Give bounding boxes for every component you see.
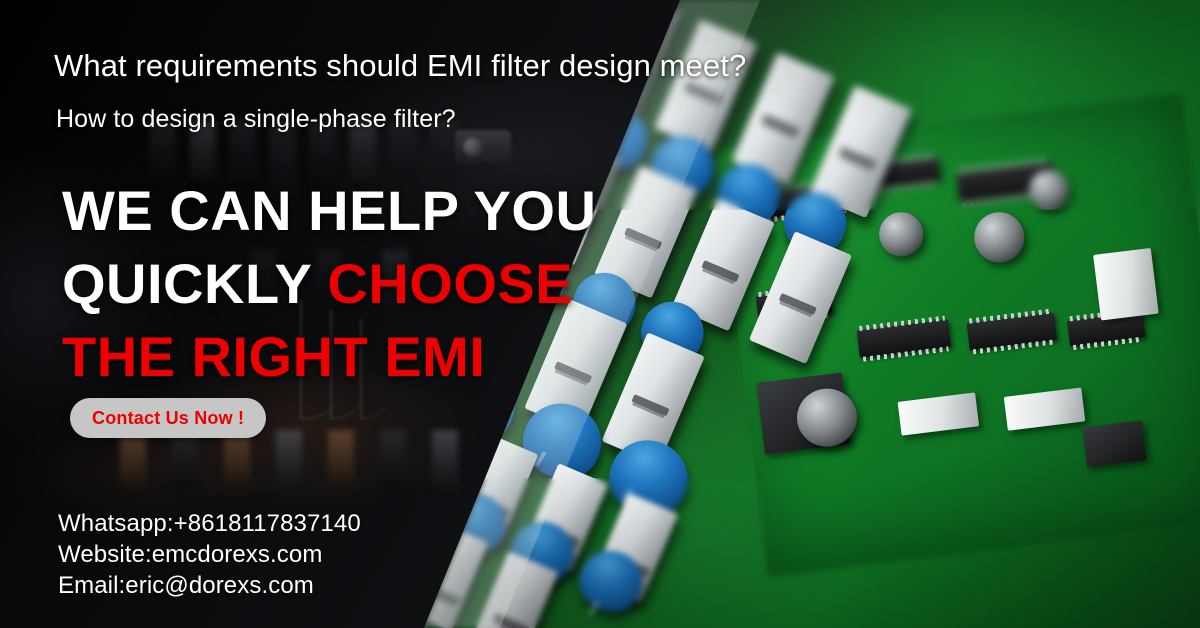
subheadline-question: How to design a single-phase filter? xyxy=(56,105,456,134)
contact-whatsapp[interactable]: Whatsapp:+8618117837140 xyxy=(58,508,361,539)
contact-email[interactable]: Email:eric@dorexs.com xyxy=(58,570,361,601)
contact-info-block: Whatsapp:+8618117837140 Website:emcdorex… xyxy=(58,508,361,601)
headline-question: What requirements should EMI filter desi… xyxy=(54,48,746,84)
slogan-line-2: QUICKLY CHOOSE xyxy=(62,247,596,320)
contact-us-button[interactable]: Contact Us Now ! xyxy=(70,398,266,438)
slogan-line-1: WE CAN HELP YOU xyxy=(62,174,596,247)
slogan-line-2-red: CHOOSE xyxy=(327,252,573,315)
promo-banner: What requirements should EMI filter desi… xyxy=(0,0,1200,628)
banner-content: What requirements should EMI filter desi… xyxy=(0,0,1200,628)
contact-website[interactable]: Website:emcdorexs.com xyxy=(58,539,361,570)
slogan-block: WE CAN HELP YOU QUICKLY CHOOSE THE RIGHT… xyxy=(62,174,596,393)
slogan-line-3: THE RIGHT EMI xyxy=(62,320,596,393)
slogan-line-2-white: QUICKLY xyxy=(62,252,327,315)
